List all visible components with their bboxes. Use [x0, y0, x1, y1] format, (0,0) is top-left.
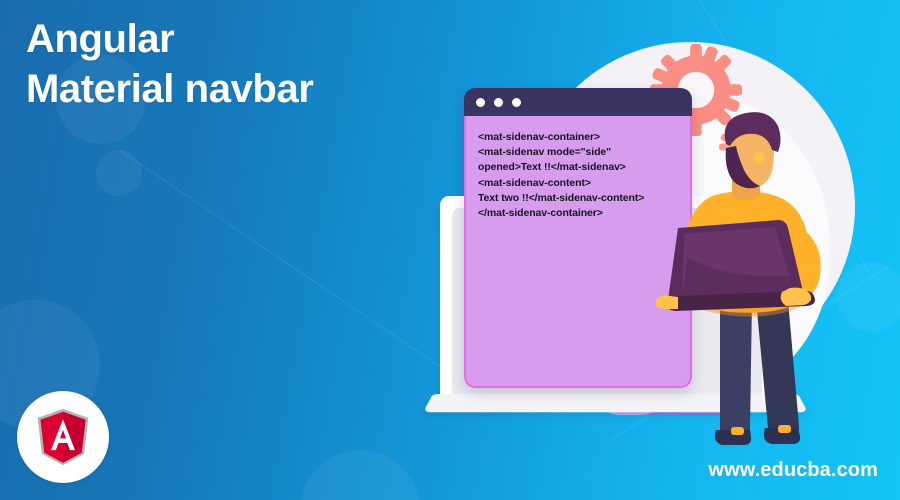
angular-logo-badge [17, 391, 109, 483]
person-illustration [420, 0, 900, 500]
illustration: <mat-sidenav-container> <mat-sidenav mod… [420, 0, 900, 500]
deco-line-1 [119, 150, 451, 375]
banner: Angular Material navbar [0, 0, 900, 500]
angular-logo-icon [34, 407, 92, 467]
deco-circle-3 [300, 450, 420, 500]
website-url: www.educba.com [708, 459, 878, 482]
deco-circle-2 [96, 150, 142, 196]
page-title: Angular Material navbar [26, 14, 313, 115]
